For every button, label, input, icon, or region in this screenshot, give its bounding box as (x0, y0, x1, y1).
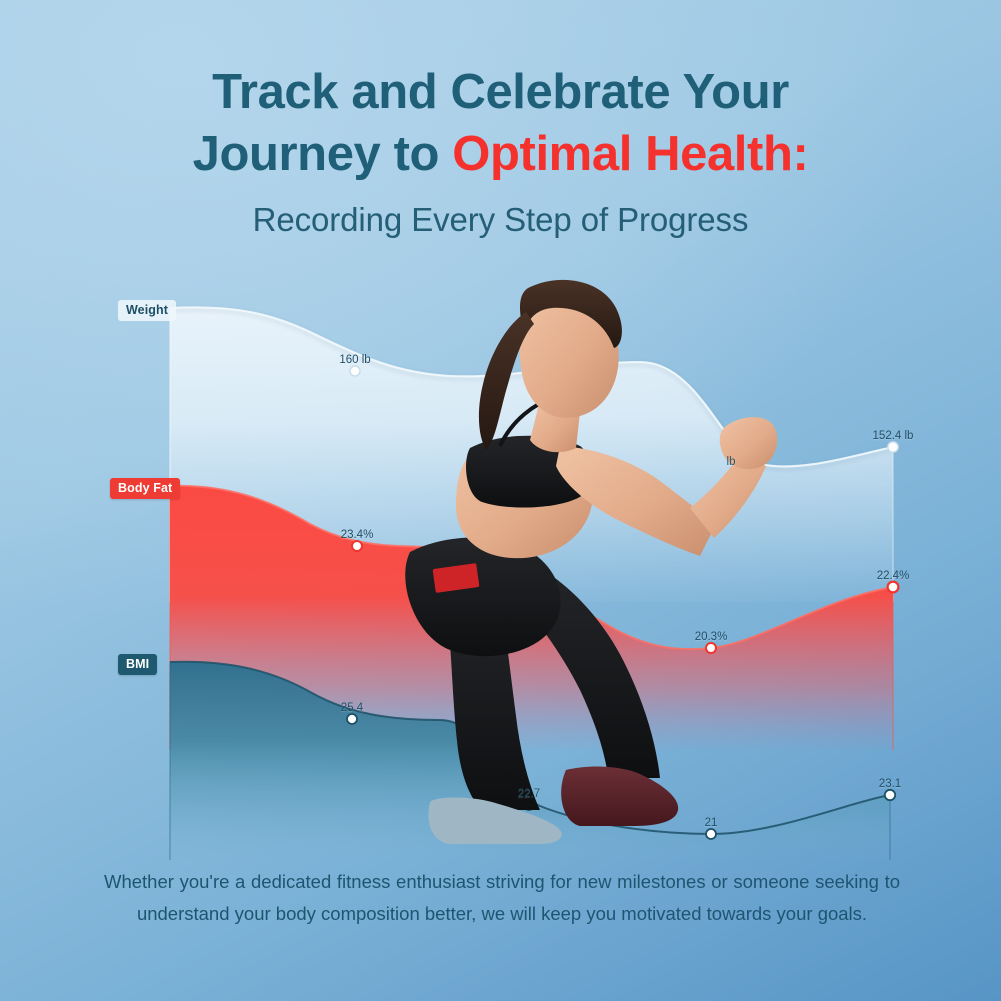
data-point-bmi-23-1[interactable] (885, 790, 895, 800)
page-title-line-2: Journey to Optimal Health: (0, 124, 1001, 186)
page-title-line-2-plain: Journey to (193, 127, 453, 181)
series-label-weight[interactable]: Weight (118, 300, 176, 321)
data-label-bodyfat-20-3: 20.3% (695, 631, 728, 643)
data-point-bmi-21[interactable] (706, 829, 716, 839)
data-label-bmi-22-7: 22.7 (518, 788, 540, 800)
data-point-bodyfat-23-4[interactable] (352, 541, 362, 551)
page-title-line-1: Track and Celebrate Your (0, 62, 1001, 124)
data-point-weight-160[interactable] (350, 366, 360, 376)
heading-block: Track and Celebrate Your Journey to Opti… (0, 62, 1001, 239)
chart-svg (0, 250, 1001, 860)
data-label-bmi-21: 21 (705, 817, 718, 829)
body-composition-chart: Weight Body Fat BMI 160 lb lb 152.4 lb 2… (0, 250, 1001, 860)
poster-root: Track and Celebrate Your Journey to Opti… (0, 0, 1001, 1001)
data-point-bmi-25-4[interactable] (347, 714, 357, 724)
data-point-bmi-22-7[interactable] (524, 800, 534, 810)
data-label-weight-152-4: 152.4 lb (873, 430, 914, 442)
page-title-accent: Optimal Health: (452, 127, 808, 181)
data-label-bodyfat-22-4: 22.4% (877, 570, 910, 582)
description-paragraph: Whether you're a dedicated fitness enthu… (104, 866, 900, 930)
data-point-weight-152-4[interactable] (888, 442, 898, 452)
data-label-bodyfat-23-4: 23.4% (341, 529, 374, 541)
page-subtitle: Recording Every Step of Progress (0, 201, 1001, 239)
data-point-bodyfat-22-4[interactable] (888, 582, 899, 593)
series-label-body-fat[interactable]: Body Fat (110, 478, 180, 499)
data-point-bodyfat-20-3[interactable] (706, 643, 716, 653)
series-label-bmi[interactable]: BMI (118, 654, 157, 675)
data-label-weight-mid: lb (727, 456, 736, 468)
data-label-bmi-23-1: 23.1 (879, 778, 901, 790)
data-label-bmi-25-4: 25.4 (341, 702, 363, 714)
data-label-weight-160: 160 lb (339, 354, 370, 366)
